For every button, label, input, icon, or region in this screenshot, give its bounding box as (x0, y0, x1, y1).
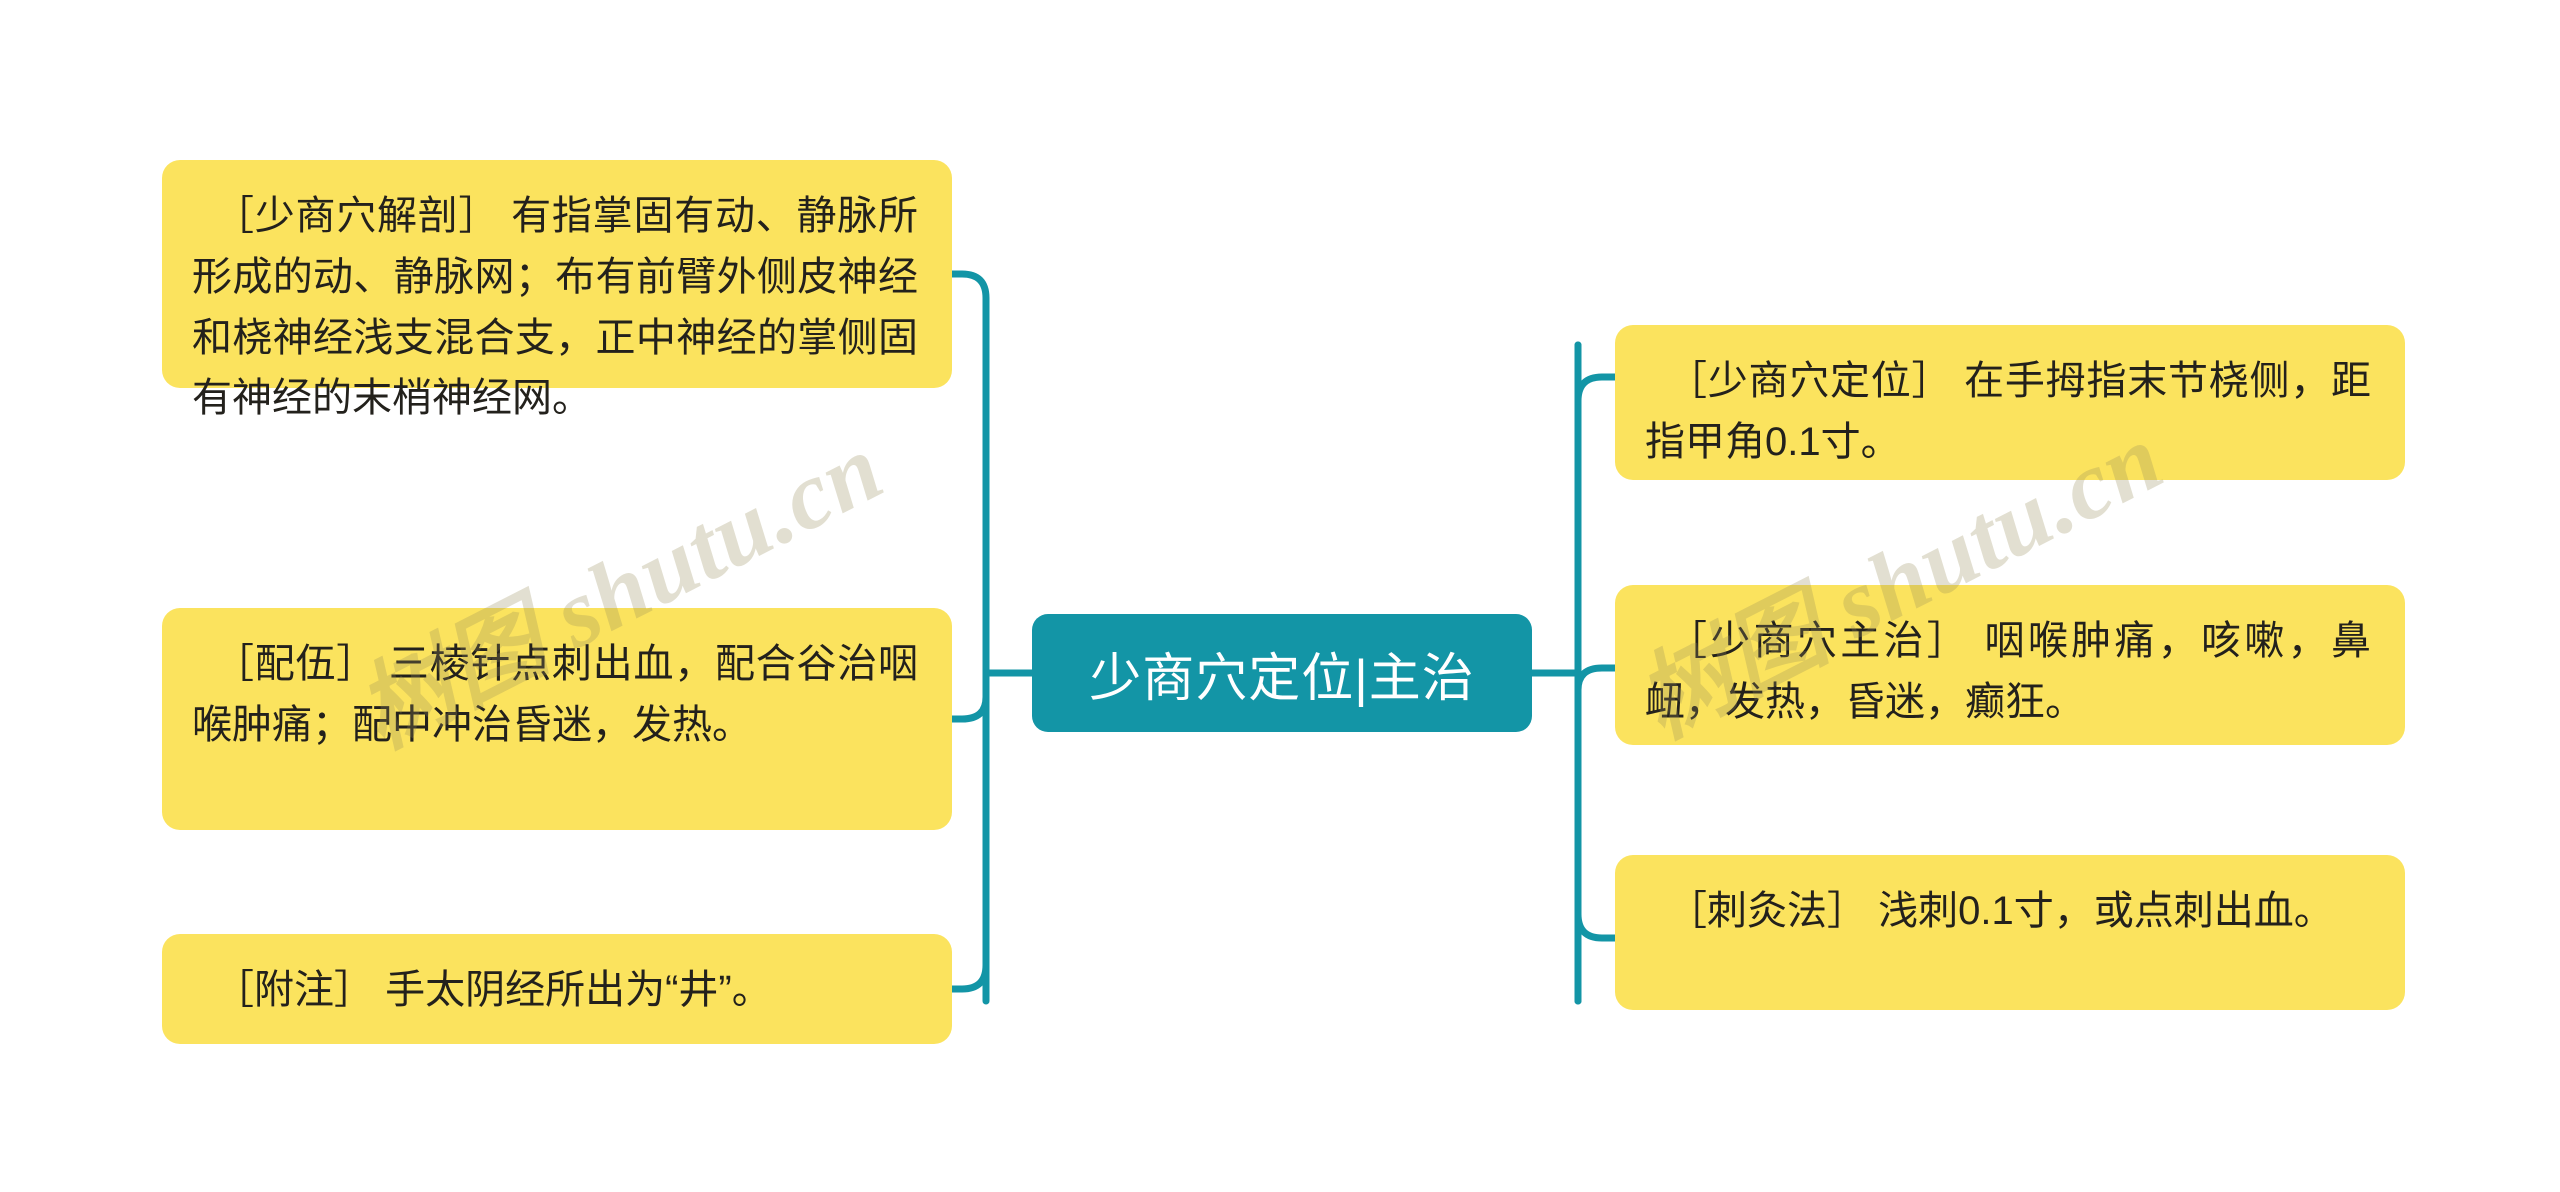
center-node[interactable]: 少商穴定位|主治 (1032, 614, 1532, 732)
connector-right-zhuzhi (1578, 668, 1615, 690)
mindmap-canvas: 树图 shutu.cn 树图 shutu.cn ［少商穴解剖］ 有指掌固有动、静… (0, 0, 2560, 1192)
leaf-node-dingwei-label: ［少商穴定位］ 在手拇指末节桡侧，距指甲角0.1寸。 (1645, 351, 2371, 473)
connector-right-cijiufa (1578, 914, 1615, 1001)
leaf-node-anatomy[interactable]: ［少商穴解剖］ 有指掌固有动、静脉所形成的动、静脉网；布有前臂外侧皮神经和桡神经… (162, 160, 952, 388)
leaf-node-fuzhu[interactable]: ［附注］ 手太阴经所出为“井”。 (162, 934, 952, 1044)
leaf-node-anatomy-label: ［少商穴解剖］ 有指掌固有动、静脉所形成的动、静脉网；布有前臂外侧皮神经和桡神经… (192, 186, 918, 429)
leaf-node-cijiufa-label: ［刺灸法］ 浅刺0.1寸，或点刺出血。 (1645, 881, 2371, 942)
leaf-node-zhuzhi-label: ［少商穴主治］ 咽喉肿痛，咳嗽，鼻衄，发热，昏迷，癫狂。 (1645, 611, 2371, 733)
connector-right-dingwei (1578, 345, 1615, 401)
leaf-node-zhuzhi[interactable]: ［少商穴主治］ 咽喉肿痛，咳嗽，鼻衄，发热，昏迷，癫狂。 (1615, 585, 2405, 745)
leaf-node-fuzhu-label: ［附注］ 手太阴经所出为“井”。 (192, 960, 918, 1021)
center-node-label: 少商穴定位|主治 (1089, 636, 1475, 711)
leaf-node-dingwei[interactable]: ［少商穴定位］ 在手拇指末节桡侧，距指甲角0.1寸。 (1615, 325, 2405, 480)
leaf-node-peiwu-label: ［配伍］ 三棱针点刺出血，配合谷治咽喉肿痛；配中冲治昏迷，发热。 (192, 634, 918, 756)
leaf-node-cijiufa[interactable]: ［刺灸法］ 浅刺0.1寸，或点刺出血。 (1615, 855, 2405, 1010)
connector-left-fuzhu (952, 919, 986, 989)
connector-left-anatomy (952, 274, 986, 345)
connector-left-peiwu (952, 673, 986, 719)
leaf-node-peiwu[interactable]: ［配伍］ 三棱针点刺出血，配合谷治咽喉肿痛；配中冲治昏迷，发热。 (162, 608, 952, 830)
